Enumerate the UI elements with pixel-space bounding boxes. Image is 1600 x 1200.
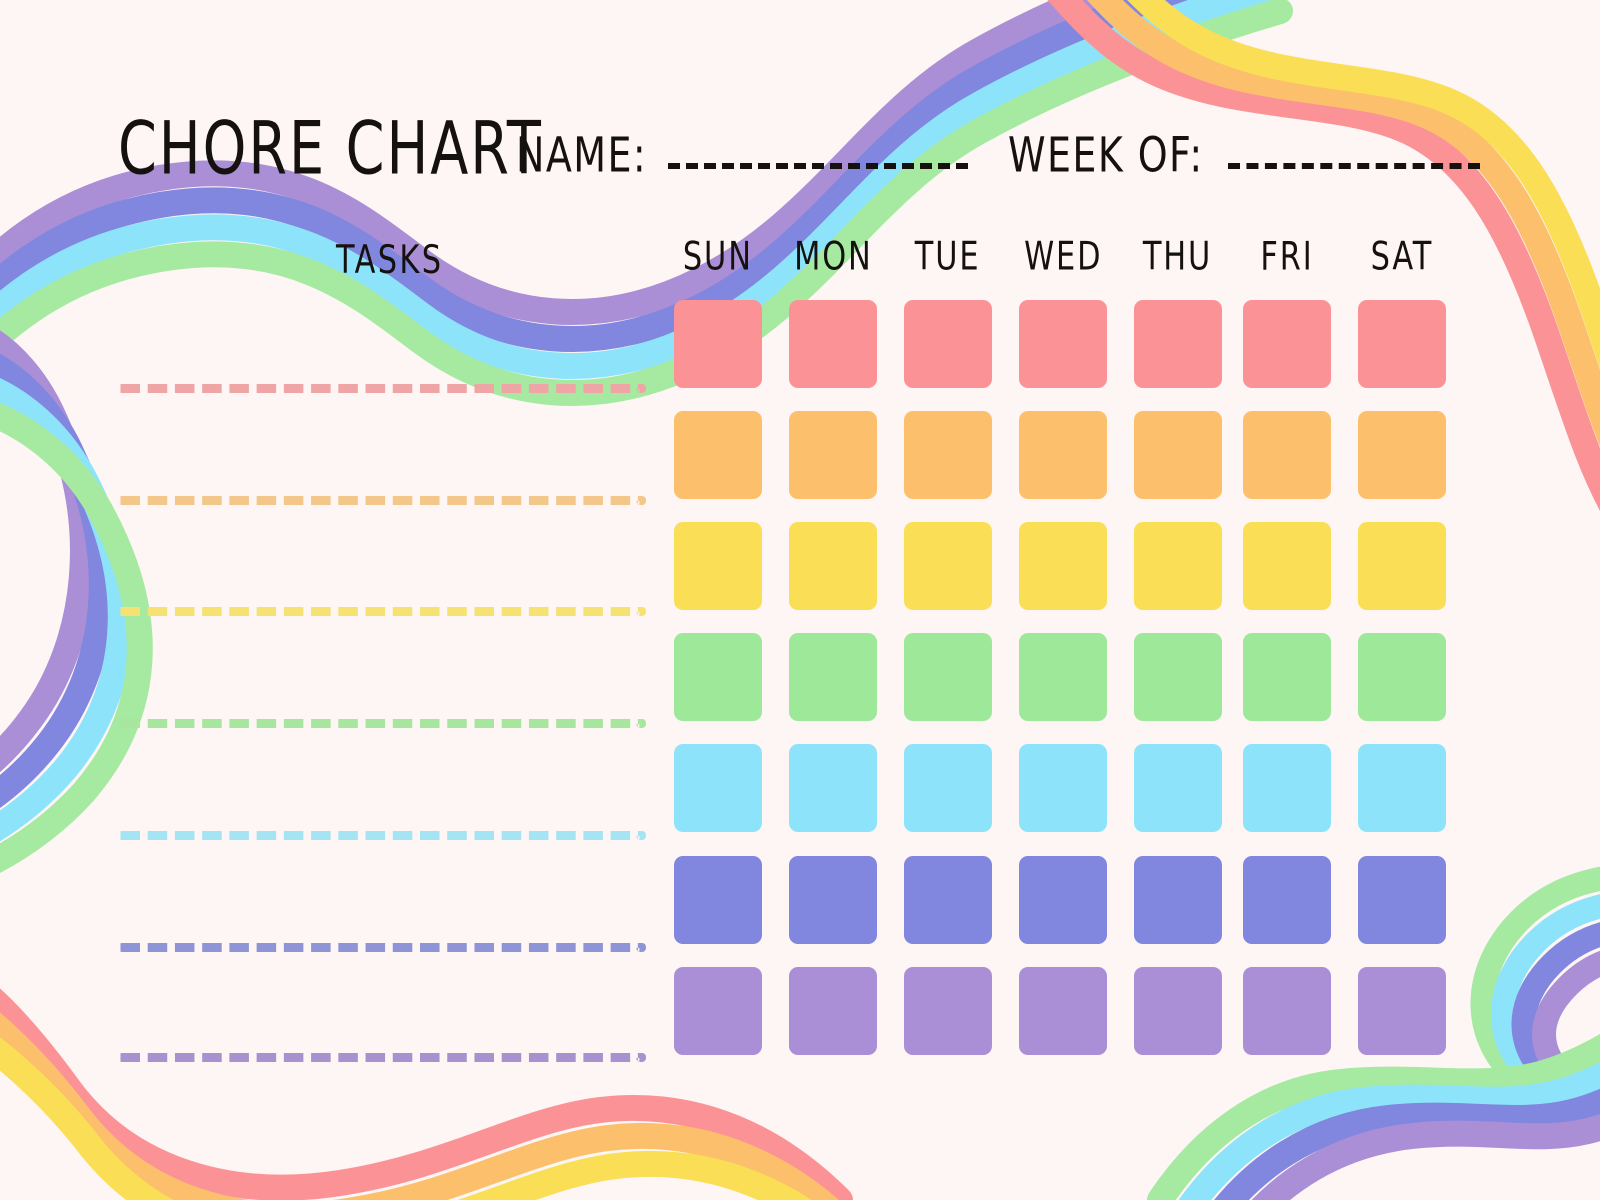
tasks-column-header: TASKS <box>336 240 443 279</box>
checkbox-cell-r3-fri[interactable] <box>1243 522 1331 610</box>
day-header-fri: FRI <box>1232 240 1342 272</box>
day-header-label: WED <box>1024 236 1102 275</box>
checkbox-cell-r5-sun[interactable] <box>674 744 762 832</box>
checkbox-cell-r3-tue[interactable] <box>904 522 992 610</box>
checkbox-cell-r3-wed[interactable] <box>1019 522 1107 610</box>
checkbox-cell-r2-sun[interactable] <box>674 411 762 499</box>
day-header-label: FRI <box>1260 236 1313 275</box>
task-line-4[interactable] <box>118 719 646 728</box>
day-header-wed: WED <box>1008 240 1118 272</box>
checkbox-cell-r5-thu[interactable] <box>1134 744 1222 832</box>
checkbox-cell-r6-sun[interactable] <box>674 856 762 944</box>
task-line-3[interactable] <box>118 607 646 616</box>
checkbox-cell-r1-sun[interactable] <box>674 300 762 388</box>
checkbox-cell-r1-wed[interactable] <box>1019 300 1107 388</box>
checkbox-cell-r7-mon[interactable] <box>789 967 877 1055</box>
page-title: CHORE CHART <box>118 112 543 185</box>
checkbox-cell-r1-sat[interactable] <box>1358 300 1446 388</box>
checkbox-cell-r5-fri[interactable] <box>1243 744 1331 832</box>
task-line-2[interactable] <box>118 496 646 505</box>
checkbox-cell-r1-tue[interactable] <box>904 300 992 388</box>
checkbox-cell-r1-thu[interactable] <box>1134 300 1222 388</box>
checkbox-cell-r4-sun[interactable] <box>674 633 762 721</box>
task-line-5[interactable] <box>118 831 646 840</box>
checkbox-cell-r2-wed[interactable] <box>1019 411 1107 499</box>
day-header-thu: THU <box>1123 240 1233 272</box>
week-of-field[interactable]: WEEK OF: <box>1008 140 1480 180</box>
task-line-1[interactable] <box>118 384 646 393</box>
checkbox-cell-r4-mon[interactable] <box>789 633 877 721</box>
day-header-mon: MON <box>778 240 888 272</box>
checkbox-cell-r2-sat[interactable] <box>1358 411 1446 499</box>
checkbox-cell-r4-fri[interactable] <box>1243 633 1331 721</box>
checkbox-cell-r5-tue[interactable] <box>904 744 992 832</box>
checkbox-cell-r2-mon[interactable] <box>789 411 877 499</box>
name-field[interactable]: NAME: <box>516 140 968 180</box>
checkbox-cell-r5-wed[interactable] <box>1019 744 1107 832</box>
checkbox-cell-r7-fri[interactable] <box>1243 967 1331 1055</box>
checkbox-cell-r1-mon[interactable] <box>789 300 877 388</box>
checkbox-cell-r7-tue[interactable] <box>904 967 992 1055</box>
week-of-label: WEEK OF: <box>1008 132 1204 180</box>
name-label: NAME: <box>516 132 647 180</box>
checkbox-cell-r6-wed[interactable] <box>1019 856 1107 944</box>
checkbox-cell-r3-sun[interactable] <box>674 522 762 610</box>
checkbox-cell-r7-thu[interactable] <box>1134 967 1222 1055</box>
day-header-label: MON <box>794 236 873 275</box>
checkbox-cell-r7-sun[interactable] <box>674 967 762 1055</box>
header: CHORE CHART NAME: WEEK OF: <box>0 112 1600 192</box>
chore-chart-page: CHORE CHART NAME: WEEK OF: TASKS SUNMONT… <box>0 0 1600 1200</box>
task-line-7[interactable] <box>118 1053 646 1062</box>
day-header-label: SUN <box>683 236 753 275</box>
checkbox-cell-r6-sat[interactable] <box>1358 856 1446 944</box>
checkbox-cell-r3-thu[interactable] <box>1134 522 1222 610</box>
checkbox-cell-r6-fri[interactable] <box>1243 856 1331 944</box>
name-input-line[interactable] <box>668 163 968 169</box>
task-line-6[interactable] <box>118 943 646 952</box>
checkbox-cell-r3-mon[interactable] <box>789 522 877 610</box>
checkbox-cell-r7-sat[interactable] <box>1358 967 1446 1055</box>
day-header-sun: SUN <box>663 240 773 272</box>
day-header-label: SAT <box>1371 236 1434 275</box>
checkbox-cell-r4-thu[interactable] <box>1134 633 1222 721</box>
day-header-tue: TUE <box>893 240 1003 272</box>
checkbox-cell-r2-fri[interactable] <box>1243 411 1331 499</box>
checkbox-cell-r6-tue[interactable] <box>904 856 992 944</box>
day-header-label: TUE <box>915 236 981 275</box>
checkbox-cell-r4-wed[interactable] <box>1019 633 1107 721</box>
checkbox-cell-r3-sat[interactable] <box>1358 522 1446 610</box>
checkbox-cell-r1-fri[interactable] <box>1243 300 1331 388</box>
checkbox-cell-r5-mon[interactable] <box>789 744 877 832</box>
checkbox-cell-r4-sat[interactable] <box>1358 633 1446 721</box>
checkbox-cell-r2-tue[interactable] <box>904 411 992 499</box>
checkbox-cell-r7-wed[interactable] <box>1019 967 1107 1055</box>
checkbox-cell-r5-sat[interactable] <box>1358 744 1446 832</box>
day-header-label: THU <box>1143 236 1212 275</box>
checkbox-cell-r4-tue[interactable] <box>904 633 992 721</box>
day-header-sat: SAT <box>1347 240 1457 272</box>
checkbox-cell-r2-thu[interactable] <box>1134 411 1222 499</box>
checkbox-cell-r6-thu[interactable] <box>1134 856 1222 944</box>
week-of-input-line[interactable] <box>1228 163 1480 169</box>
checkbox-cell-r6-mon[interactable] <box>789 856 877 944</box>
